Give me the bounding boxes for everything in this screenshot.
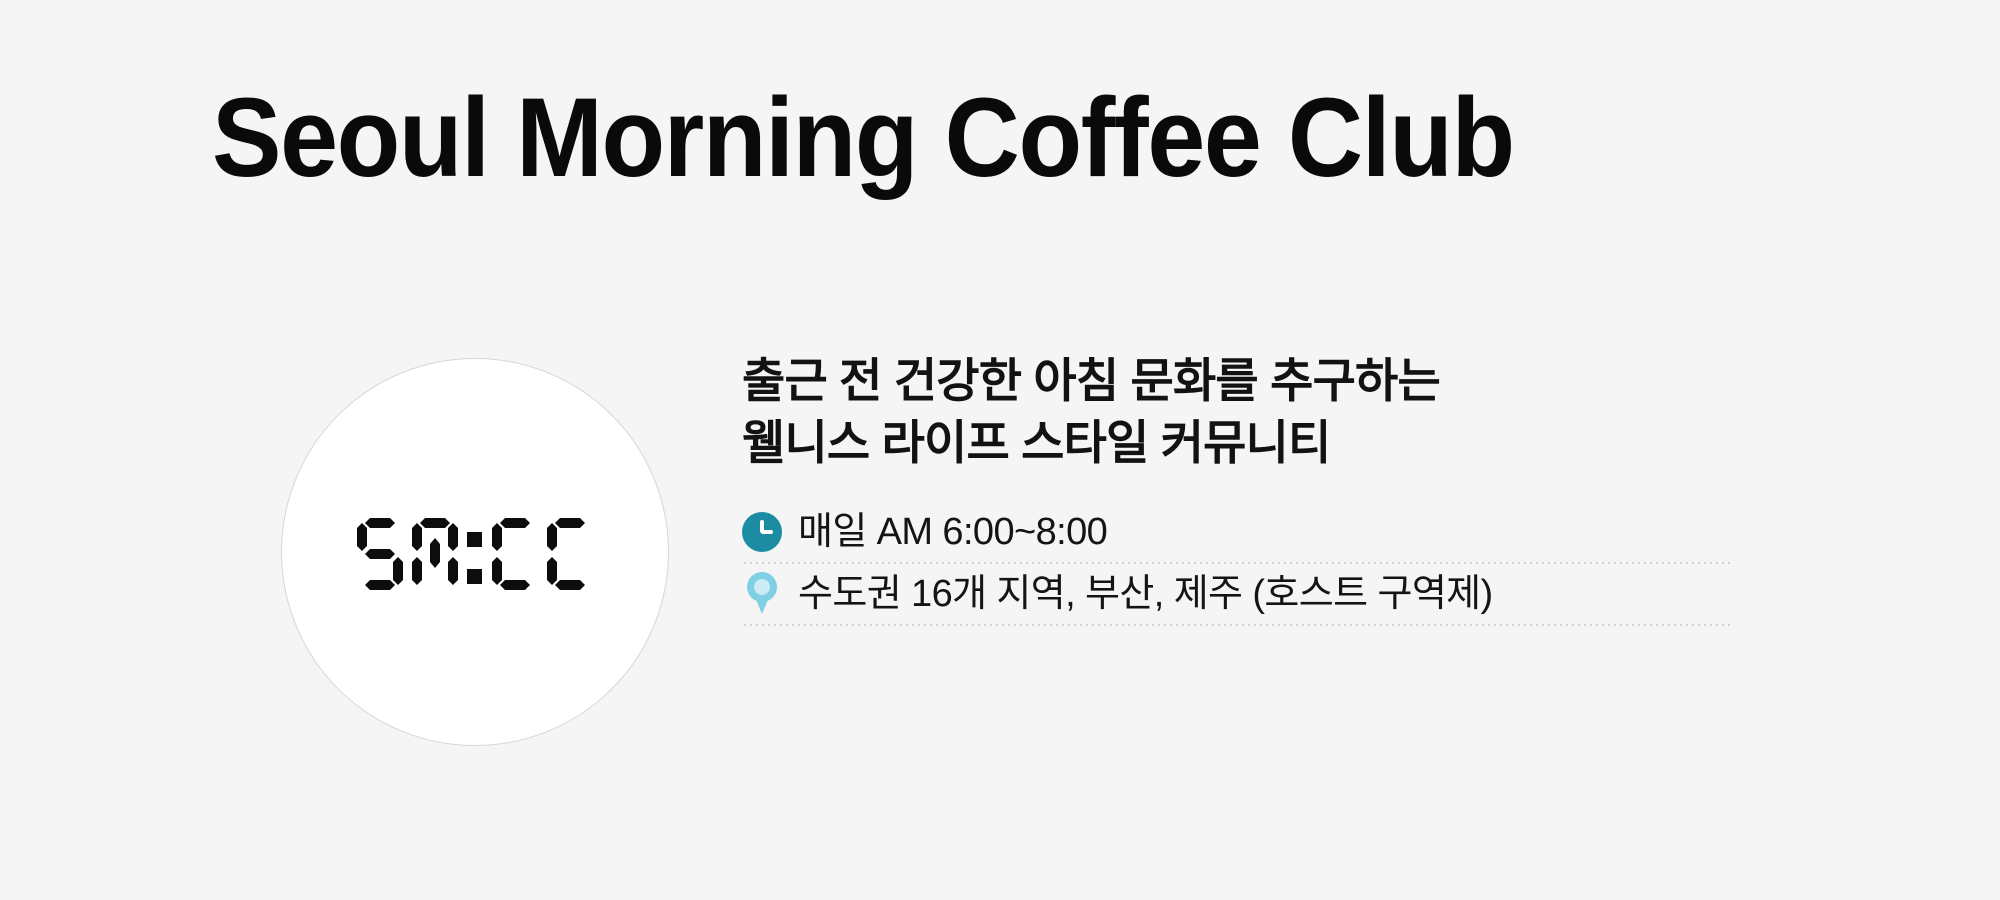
clock-icon xyxy=(742,512,782,552)
content-area: SM:CC 출근 전 건강한 아침 문화를 추구하는 웰니스 라이프 스타일 커… xyxy=(0,340,2000,780)
location-label: 수도권 16개 지역, 부산, 제주 (호스트 구역제) xyxy=(798,572,1493,616)
headline-line-2: 웰니스 라이프 스타일 커뮤니티 xyxy=(742,412,1792,474)
logo-seven-segment-display xyxy=(357,518,593,590)
meta-list: 매일 AM 6:00~8:00 수도권 16개 지역, 부산, 제주 (호스트 … xyxy=(742,502,1732,626)
segment-char-c2 xyxy=(547,518,593,590)
page-title: Seoul Morning Coffee Club xyxy=(212,78,1663,198)
segment-char-c1 xyxy=(492,518,538,590)
map-pin-inner-circle xyxy=(754,579,770,595)
meta-row-location: 수도권 16개 지역, 부산, 제주 (호스트 구역제) xyxy=(742,564,1732,624)
clock-minute-hand xyxy=(761,530,773,534)
map-pin-icon xyxy=(742,571,782,617)
logo-circle: SM:CC xyxy=(281,358,669,746)
info-block: 출근 전 건강한 아침 문화를 추구하는 웰니스 라이프 스타일 커뮤니티 매일… xyxy=(742,340,1792,626)
meta-row-schedule: 매일 AM 6:00~8:00 xyxy=(742,502,1732,562)
segment-char-s xyxy=(357,518,403,590)
segment-char-m xyxy=(412,518,458,590)
divider-dotted-bottom xyxy=(742,624,1732,626)
headline-line-1: 출근 전 건강한 아침 문화를 추구하는 xyxy=(742,350,1792,412)
schedule-label: 매일 AM 6:00~8:00 xyxy=(798,510,1107,554)
segment-colon xyxy=(467,518,483,590)
headline: 출근 전 건강한 아침 문화를 추구하는 웰니스 라이프 스타일 커뮤니티 xyxy=(742,340,1792,474)
poster-canvas: Seoul Morning Coffee Club xyxy=(0,0,2000,900)
